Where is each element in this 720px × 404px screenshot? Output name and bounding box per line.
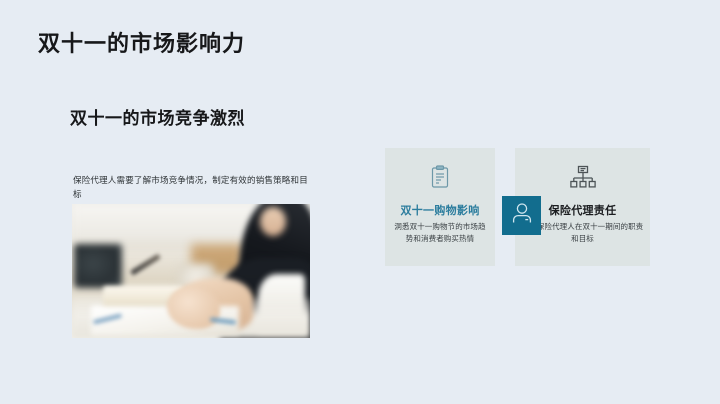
card-shopping-impact[interactable]: 双十一购物影响 洞悉双十一购物节的市场趋势和消费者购买热情 [385, 148, 495, 266]
person-badge[interactable] [502, 196, 541, 235]
section-heading: 双十一的市场竞争激烈 [70, 104, 318, 129]
desk-photo [72, 204, 310, 338]
left-content-column: 双十一的市场竞争激烈 保险代理人需要了解市场竞争情况，制定有效的销售策略和目标 [68, 104, 318, 202]
photo-person-hand [167, 287, 219, 329]
section-body-text: 保险代理人需要了解市场竞争情况，制定有效的销售策略和目标 [73, 173, 313, 202]
slide-canvas: 双十一的市场影响力 双十一的市场竞争激烈 保险代理人需要了解市场竞争情况，制定有… [0, 0, 720, 404]
person-icon [510, 201, 534, 230]
card-description: 洞悉双十一购物节的市场趋势和消费者购买热情 [391, 221, 489, 244]
clipboard-icon [391, 160, 489, 194]
photo-monitor [74, 244, 122, 288]
page-title: 双十一的市场影响力 [38, 26, 245, 58]
org-chart-icon [521, 160, 644, 194]
card-title: 双十一购物影响 [391, 202, 489, 218]
